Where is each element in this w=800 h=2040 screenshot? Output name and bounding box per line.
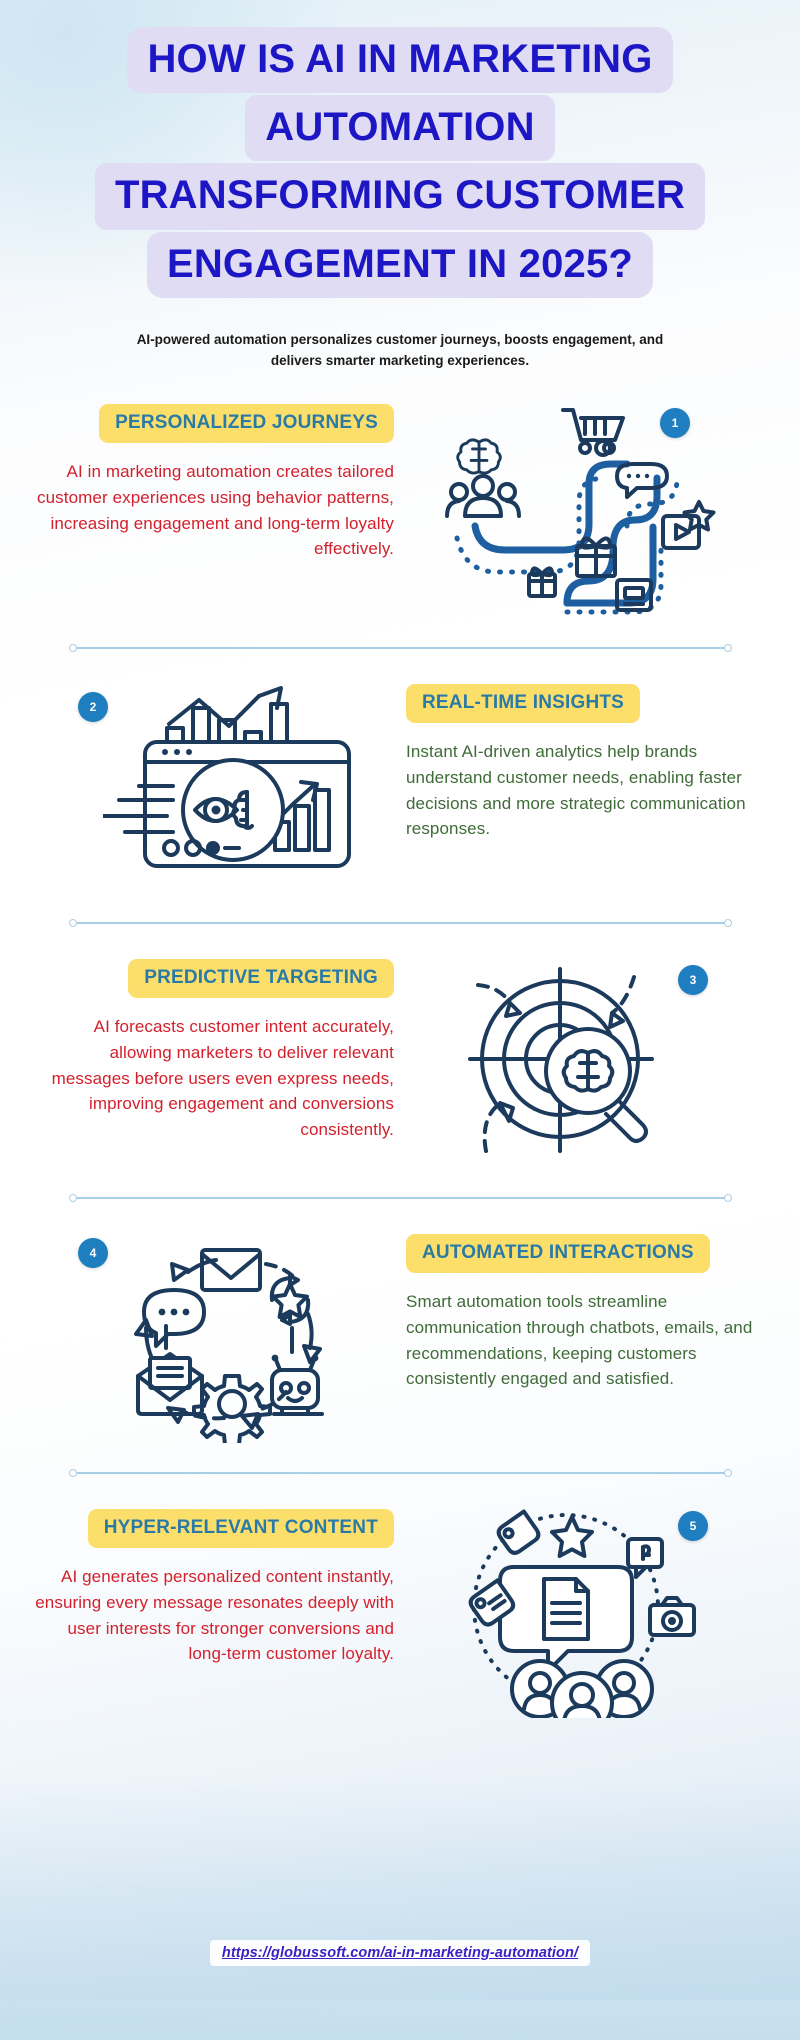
automation-cycle-illustration xyxy=(68,1228,398,1443)
section-2-heading: REAL-TIME INSIGHTS xyxy=(406,684,640,723)
section-real-time-insights: 2 REAL-TIME INSIGHTS Instant AI-driven a… xyxy=(0,678,800,927)
section-predictive-targeting: 3 PREDICTIVE TARGETING AI forecasts cust… xyxy=(0,953,800,1202)
section-1-body: AI in marketing automation creates tailo… xyxy=(34,459,394,562)
section-2-text-column: REAL-TIME INSIGHTS Instant AI-driven ana… xyxy=(406,678,766,842)
section-number-badge-3: 3 xyxy=(678,965,708,995)
section-divider-4 xyxy=(73,1469,728,1477)
section-divider-1 xyxy=(73,644,728,652)
section-number-badge-4: 4 xyxy=(78,1238,108,1268)
section-4-body: Smart automation tools streamline commun… xyxy=(406,1289,766,1392)
footer-url-link[interactable]: https://globussoft.com/ai-in-marketing-a… xyxy=(210,1940,590,1966)
section-number-badge-2: 2 xyxy=(78,692,108,722)
section-5-heading: HYPER-RELEVANT CONTENT xyxy=(88,1509,394,1548)
section-4-text-column: AUTOMATED INTERACTIONS Smart automation … xyxy=(406,1228,766,1392)
title-line-1: HOW IS AI IN MARKETING xyxy=(127,27,672,93)
section-personalized-journeys: 1 PERSONALIZED JOURNEYS AI in marketing … xyxy=(0,398,800,652)
section-1-heading: PERSONALIZED JOURNEYS xyxy=(99,404,394,443)
page-title: HOW IS AI IN MARKETING AUTOMATION TRANSF… xyxy=(0,0,800,299)
section-divider-3 xyxy=(73,1194,728,1202)
section-5-text-column: HYPER-RELEVANT CONTENT AI generates pers… xyxy=(34,1503,394,1667)
realtime-analytics-illustration xyxy=(68,678,398,893)
section-divider-2 xyxy=(73,919,728,927)
section-number-badge-1: 1 xyxy=(660,408,690,438)
section-3-body: AI forecasts customer intent accurately,… xyxy=(34,1014,394,1143)
section-1-text-column: PERSONALIZED JOURNEYS AI in marketing au… xyxy=(34,398,394,562)
section-hyper-relevant-content: 5 HYPER-RELEVANT CONTENT AI generates pe… xyxy=(0,1503,800,1718)
title-line-3: TRANSFORMING CUSTOMER xyxy=(95,163,705,229)
title-line-4: ENGAGEMENT IN 2025? xyxy=(147,232,653,298)
section-number-badge-5: 5 xyxy=(678,1511,708,1541)
section-5-body: AI generates personalized content instan… xyxy=(34,1564,394,1667)
section-automated-interactions: 4 AUTOMATED INTERACTIONS Smart automatio… xyxy=(0,1228,800,1477)
title-line-2: AUTOMATION xyxy=(245,95,554,161)
section-4-heading: AUTOMATED INTERACTIONS xyxy=(406,1234,710,1273)
section-3-text-column: PREDICTIVE TARGETING AI forecasts custom… xyxy=(34,953,394,1143)
section-2-body: Instant AI-driven analytics help brands … xyxy=(406,739,766,842)
infographic-page: HOW IS AI IN MARKETING AUTOMATION TRANSF… xyxy=(0,0,800,2000)
section-3-heading: PREDICTIVE TARGETING xyxy=(128,959,394,998)
footer: https://globussoft.com/ai-in-marketing-a… xyxy=(0,1940,800,1966)
subtitle: AI-powered automation personalizes custo… xyxy=(115,329,685,372)
